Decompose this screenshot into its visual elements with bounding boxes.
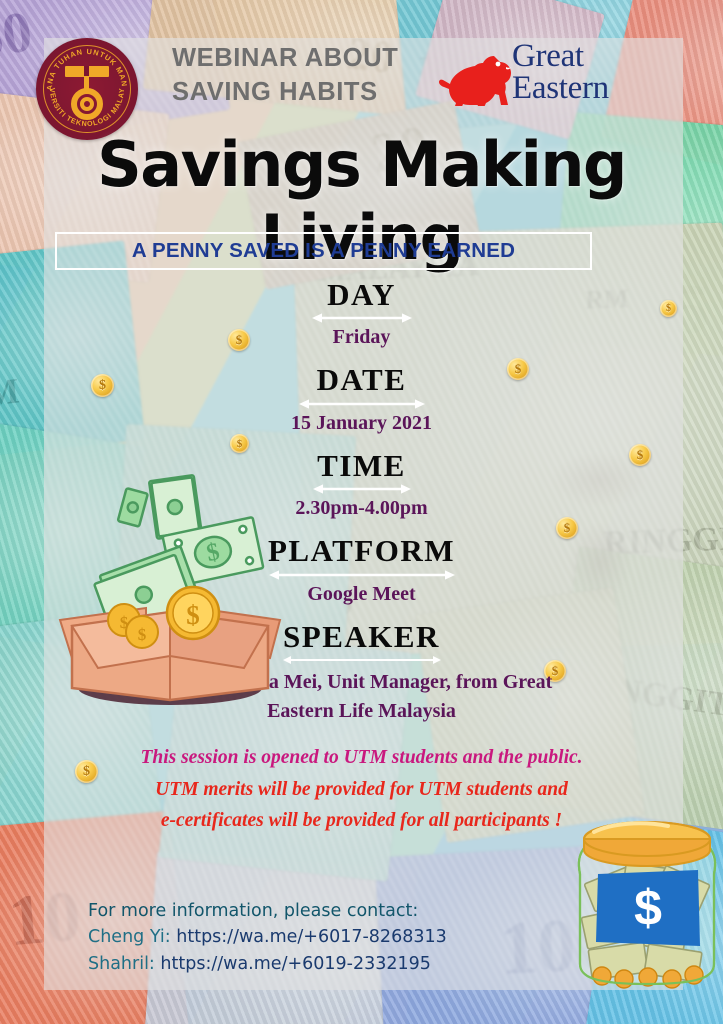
detail-label: DATE <box>0 363 723 396</box>
arrow-divider-icon <box>313 483 411 495</box>
contact-name: Shahril: <box>88 954 155 974</box>
detail-label: DAY <box>0 278 723 311</box>
detail-value: Friday <box>0 326 723 349</box>
contact-url[interactable]: https://wa.me/+6019-2332195 <box>160 954 431 974</box>
header-title-line2: SAVING HABITS <box>172 76 462 110</box>
contact-url[interactable]: https://wa.me/+6017-8268313 <box>176 927 447 947</box>
svg-text:$: $ <box>138 625 147 644</box>
arrow-divider-icon <box>299 398 425 410</box>
money-box-illustration: $ <box>58 460 290 710</box>
detail-day: DAY Friday <box>0 278 723 349</box>
header-title-line1: WEBINAR ABOUT <box>172 42 462 76</box>
utm-logo: KERANA TUHAN UNTUK MANUSIA UNIVERSITI TE… <box>36 38 138 140</box>
tagline-box: A PENNY SAVED IS A PENNY EARNED <box>55 232 592 270</box>
great-eastern-line1: Great <box>512 40 609 72</box>
great-eastern-wordmark: Great Eastern <box>512 40 609 104</box>
money-jar-illustration: $ <box>572 812 722 990</box>
contact-person: Shahril: https://wa.me/+6019-2332195 <box>88 951 447 977</box>
arrow-divider-icon <box>269 569 455 581</box>
lion-icon <box>436 50 514 106</box>
great-eastern-logo: Great Eastern <box>436 42 626 114</box>
jar-dollar-symbol: $ <box>634 880 662 936</box>
tagline-text: A PENNY SAVED IS A PENNY EARNED <box>132 239 515 263</box>
header-title: WEBINAR ABOUT SAVING HABITS <box>172 42 462 109</box>
contact-block: For more information, please contact: Ch… <box>88 898 447 977</box>
poster: 50 20 RM RM 5 5 MALAYSIA RM 5 RINGGIT RI… <box>0 0 723 1024</box>
contact-heading: For more information, please contact: <box>88 898 447 924</box>
note-line: This session is opened to UTM students a… <box>0 742 723 774</box>
poster-header: KERANA TUHAN UNTUK MANUSIA UNIVERSITI TE… <box>0 0 723 130</box>
arrow-divider-icon <box>283 654 441 666</box>
svg-text:$: $ <box>186 600 200 630</box>
arrow-divider-icon <box>312 312 412 324</box>
banknote-illustration <box>118 488 148 527</box>
utm-emblem-icon <box>63 66 111 118</box>
contact-name: Cheng Yi: <box>88 927 171 947</box>
detail-date: DATE 15 January 2021 <box>0 363 723 434</box>
contact-person: Cheng Yi: https://wa.me/+6017-8268313 <box>88 924 447 950</box>
detail-value: 15 January 2021 <box>0 412 723 435</box>
note-line: UTM merits will be provided for UTM stud… <box>0 774 723 806</box>
great-eastern-line2: Eastern <box>512 72 609 104</box>
